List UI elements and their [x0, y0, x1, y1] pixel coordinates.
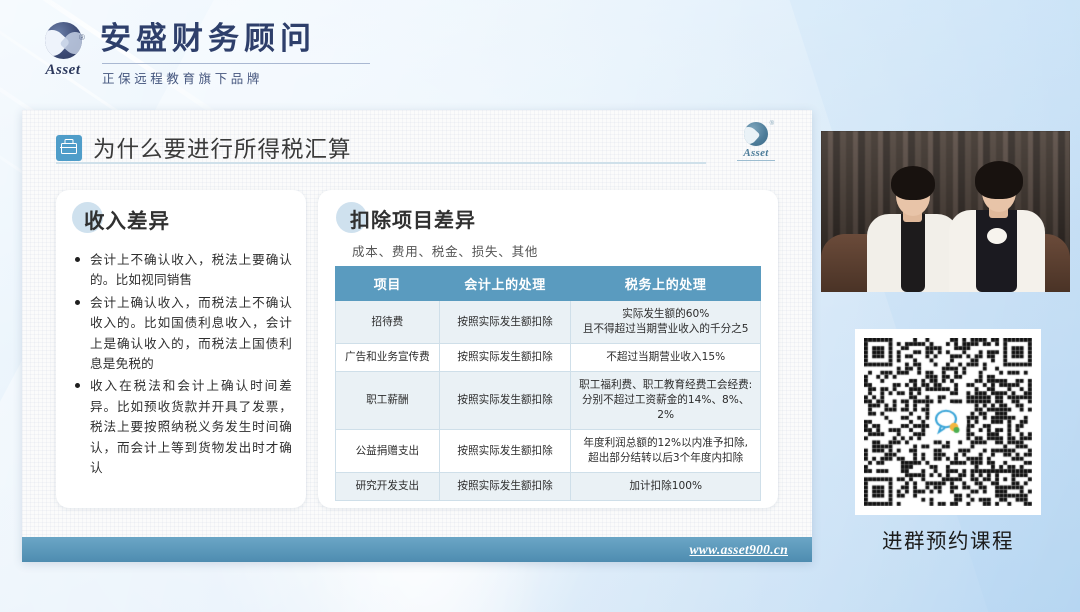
deduction-table: 项目会计上的处理税务上的处理 招待费按照实际发生额扣除实际发生额的60%且不得超…: [335, 266, 761, 501]
income-difference-bullet-list: 会计上不确认收入，税法上要确认的。比如视同销售会计上确认收入，而税法上不确认收入…: [73, 250, 292, 478]
table-cell: 招待费: [336, 301, 440, 344]
table-cell: 按照实际发生额扣除: [439, 430, 571, 473]
bullet-item: 会计上确认收入，而税法上不确认收入的。比如国债利息收入，会计上是确认收入的，而税…: [73, 293, 292, 375]
table-body: 招待费按照实际发生额扣除实际发生额的60%且不得超过当期营业收入的千分之5广告和…: [336, 301, 761, 501]
table-cell: 按照实际发生额扣除: [439, 372, 571, 430]
brand-text-block: 安盛财务顾问 正保远程教育旗下品牌: [100, 13, 370, 87]
presentation-slide: 为什么要进行所得税汇算 ® Asset 收入差异 会计上不确认收入，税法上要确认…: [22, 110, 812, 562]
right-card-heading: 扣除项目差异: [318, 204, 778, 233]
slide-footer-bar: www.asset900.cn: [22, 537, 812, 562]
presenter-video-feed[interactable]: [821, 131, 1070, 292]
table-row: 广告和业务宣传费按照实际发生额扣除不超过当期营业收入15%: [336, 344, 761, 372]
table-row: 公益捐赠支出按照实际发生额扣除年度利润总额的12%以内准予扣除,超出部分结转以后…: [336, 430, 761, 473]
qr-code-image[interactable]: [855, 329, 1041, 515]
title-underline: [56, 162, 706, 164]
registered-mark: ®: [770, 121, 774, 127]
footer-url: www.asset900.cn: [689, 542, 788, 558]
brand-tagline: 正保远程教育旗下品牌: [100, 68, 370, 87]
table-cell: 研究开发支出: [336, 473, 440, 501]
table-header-cell: 项目: [336, 267, 440, 301]
table-cell: 广告和业务宣传费: [336, 344, 440, 372]
presenter-right: [949, 161, 1045, 292]
table-cell: 加计扣除100%: [571, 473, 761, 501]
qr-caption: 进群预约课程: [855, 524, 1041, 554]
deduction-difference-card: 扣除项目差异 成本、费用、税金、损失、其他 项目会计上的处理税务上的处理 招待费…: [318, 190, 778, 508]
bullet-item: 收入在税法和会计上确认时间差异。比如预收货款并开具了发票，税法上要按照纳税义务发…: [73, 376, 292, 478]
table-header-row: 项目会计上的处理税务上的处理: [336, 267, 761, 301]
left-card-heading: 收入差异: [56, 204, 306, 234]
card-heading-row: 收入差异: [56, 190, 306, 234]
qr-code-block[interactable]: 进群预约课程: [855, 329, 1041, 554]
bullet-item: 会计上不确认收入，税法上要确认的。比如视同销售: [73, 250, 292, 291]
card-heading-row: 扣除项目差异: [318, 190, 778, 233]
table-row: 研究开发支出按照实际发生额扣除加计扣除100%: [336, 473, 761, 501]
asset-logo-mark: ® Asset: [40, 20, 86, 80]
slide-title: 为什么要进行所得税汇算: [93, 132, 352, 164]
table-cell: 公益捐赠支出: [336, 430, 440, 473]
table-cell: 不超过当期营业收入15%: [571, 344, 761, 372]
income-difference-card: 收入差异 会计上不确认收入，税法上要确认的。比如视同销售会计上确认收入，而税法上…: [56, 190, 306, 508]
table-header-cell: 会计上的处理: [439, 267, 571, 301]
table-cell: 职工福利费、职工教育经费工会经费:分别不超过工资薪金的14%、8%、2%: [571, 372, 761, 430]
table-header-cell: 税务上的处理: [571, 267, 761, 301]
table-cell: 职工薪酬: [336, 372, 440, 430]
brand-header: ® Asset 安盛财务顾问 正保远程教育旗下品牌: [0, 0, 1080, 100]
slide-header: 为什么要进行所得税汇算: [56, 124, 784, 172]
table-cell: 按照实际发生额扣除: [439, 344, 571, 372]
brand-divider: [102, 63, 370, 64]
table-row: 招待费按照实际发生额扣除实际发生额的60%且不得超过当期营业收入的千分之5: [336, 301, 761, 344]
registered-mark: ®: [79, 33, 85, 42]
company-name-cn: 安盛财务顾问: [100, 13, 370, 58]
asset-orb-icon: [45, 22, 82, 59]
table-row: 职工薪酬按照实际发生额扣除职工福利费、职工教育经费工会经费:分别不超过工资薪金的…: [336, 372, 761, 430]
right-card-subtitle: 成本、费用、税金、损失、其他: [318, 241, 778, 260]
briefcase-icon: [56, 135, 82, 161]
slide-corner-logo: ® Asset: [728, 122, 784, 161]
table-cell: 按照实际发生额扣除: [439, 473, 571, 501]
table-cell: 年度利润总额的12%以内准予扣除,超出部分结转以后3个年度内扣除: [571, 430, 761, 473]
table-cell: 按照实际发生额扣除: [439, 301, 571, 344]
asset-logo-text: Asset: [728, 147, 784, 159]
table-cell: 实际发生额的60%且不得超过当期营业收入的千分之5: [571, 301, 761, 344]
asset-orb-icon: [744, 122, 768, 146]
logo-underline: [737, 160, 775, 161]
asset-logo-text: Asset: [45, 62, 80, 79]
presenter-left: [867, 167, 959, 292]
